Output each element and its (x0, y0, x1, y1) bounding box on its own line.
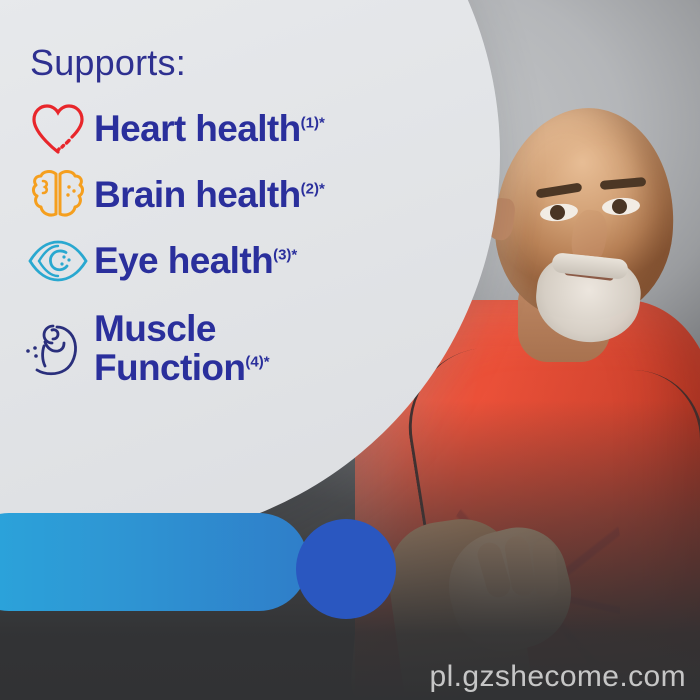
decor-pill (0, 513, 308, 611)
decor-dot (296, 519, 396, 619)
benefit-text: Eye health (94, 240, 273, 281)
iris-right (612, 199, 627, 214)
footnote-marker: (1)* (301, 115, 325, 132)
promo-banner: Supports: Heart health(1)* (0, 0, 700, 700)
footnote-marker: (3)* (273, 247, 297, 264)
list-item-muscle: Muscle Function(4)* (22, 296, 442, 400)
list-item-brain: Brain health(2)* (22, 164, 442, 226)
brain-icon (22, 164, 94, 226)
list-item-label: Muscle Function(4)* (94, 309, 270, 387)
page-title: Supports: (30, 42, 186, 84)
list-item-label: Eye health(3)* (94, 242, 297, 280)
benefits-content: Supports: Heart health(1)* (0, 0, 440, 470)
benefit-text-line1: Muscle (94, 309, 270, 348)
footnote-marker: (4)* (245, 354, 269, 371)
benefit-text: Heart health (94, 108, 301, 149)
muscle-icon (22, 296, 94, 400)
list-item-eye: Eye health(3)* (22, 230, 442, 292)
watermark: pl.gzshecome.com (429, 660, 686, 694)
list-item-label: Brain health(2)* (94, 176, 325, 214)
eye-icon (22, 230, 94, 292)
heart-icon (22, 98, 94, 160)
benefit-text-line2: Function (94, 347, 245, 388)
iris-left (550, 205, 565, 220)
footnote-marker: (2)* (301, 181, 325, 198)
list-item-heart: Heart health(1)* (22, 98, 442, 160)
list-item-label: Heart health(1)* (94, 110, 325, 148)
benefit-text: Brain health (94, 174, 301, 215)
benefits-list: Heart health(1)* Brain health(2)* (22, 98, 442, 404)
